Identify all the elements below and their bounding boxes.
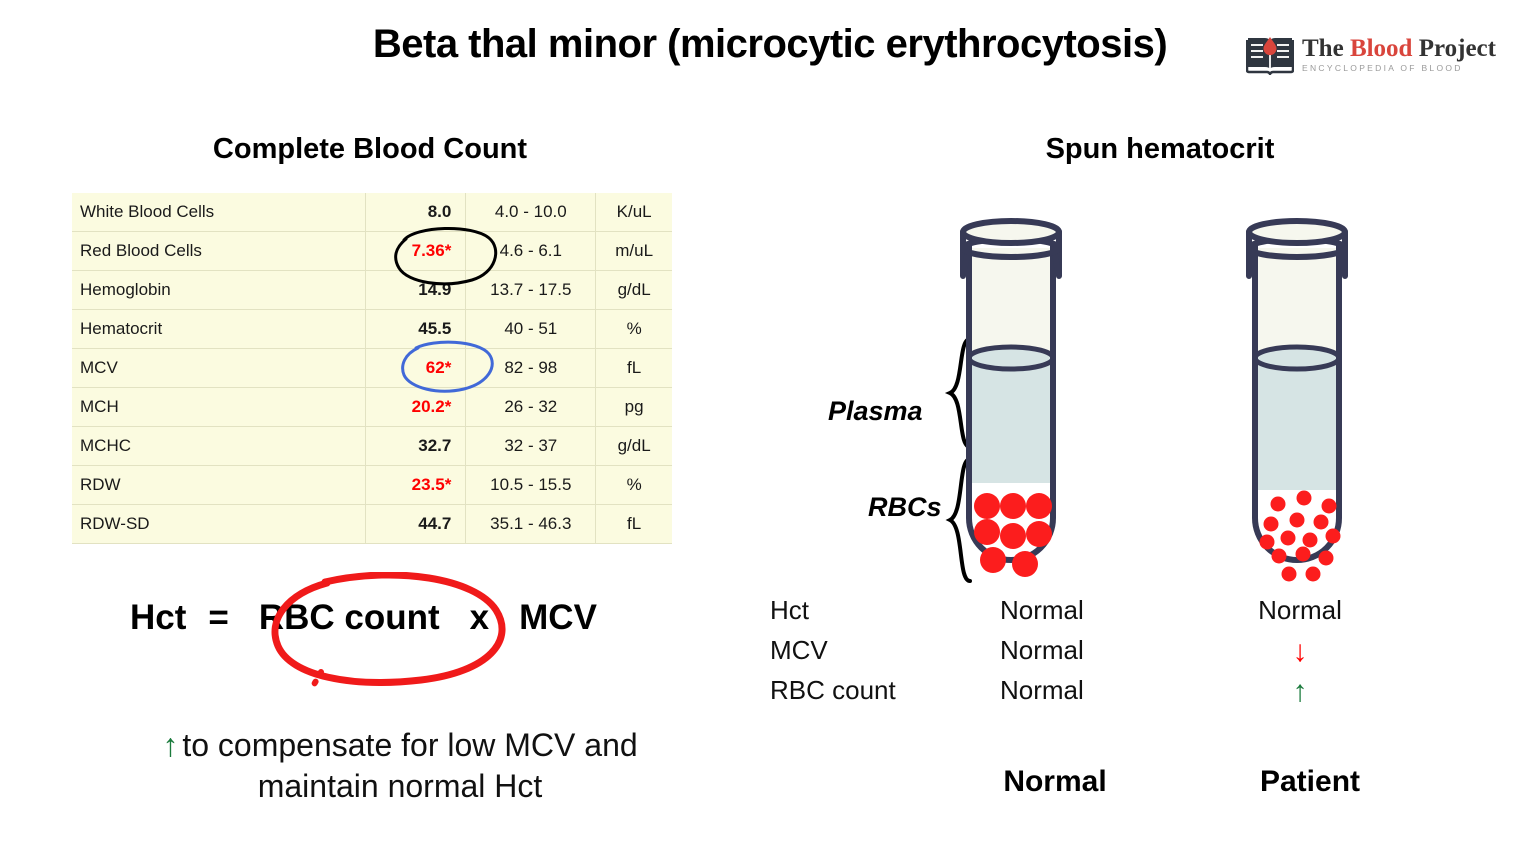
comparison-metric-label: MCV <box>770 635 828 666</box>
analyte-value: 23.5* <box>366 466 466 505</box>
analyte-name: Hematocrit <box>72 310 366 349</box>
caption-line-2: maintain normal Hct <box>258 768 543 804</box>
analyte-unit: % <box>596 310 672 349</box>
analyte-value: 45.5 <box>366 310 466 349</box>
table-row: Red Blood Cells7.36*4.6 - 6.1m/uL <box>72 232 672 271</box>
analyte-unit: % <box>596 466 672 505</box>
analyte-name: RDW-SD <box>72 505 366 544</box>
column-title-normal: Normal <box>955 765 1155 799</box>
analyte-value: 7.36* <box>366 232 466 271</box>
up-arrow-icon: ↑ <box>162 725 178 766</box>
comparison-patient-value: Normal <box>1240 595 1360 626</box>
spun-hematocrit-tubes <box>955 218 1385 588</box>
analyte-unit: g/dL <box>596 427 672 466</box>
up-arrow-icon: ↑ <box>1240 675 1360 709</box>
comparison-normal-value: Normal <box>1000 635 1084 666</box>
table-row: Hematocrit45.540 - 51% <box>72 310 672 349</box>
analyte-name: White Blood Cells <box>72 193 366 232</box>
table-row: MCV62*82 - 98fL <box>72 349 672 388</box>
analyte-name: Hemoglobin <box>72 271 366 310</box>
analyte-name: RDW <box>72 466 366 505</box>
analyte-value: 62* <box>366 349 466 388</box>
tube-patient <box>1249 221 1346 582</box>
analyte-unit: m/uL <box>596 232 672 271</box>
reference-range: 4.0 - 10.0 <box>466 193 596 232</box>
reference-range: 10.5 - 15.5 <box>466 466 596 505</box>
down-arrow-icon: ↓ <box>1240 635 1360 669</box>
plasma-label: Plasma <box>828 396 923 427</box>
analyte-unit: fL <box>596 349 672 388</box>
normal-vs-patient-comparison: Hct Normal Normal MCV Normal ↓ RBC count… <box>770 595 1430 730</box>
analyte-unit: g/dL <box>596 271 672 310</box>
reference-range: 82 - 98 <box>466 349 596 388</box>
analyte-value: 14.9 <box>366 271 466 310</box>
formula-times: x <box>470 598 489 638</box>
compensation-caption: ↑to compensate for low MCV and maintain … <box>55 725 745 807</box>
reference-range: 13.7 - 17.5 <box>466 271 596 310</box>
formula-lhs: Hct <box>130 598 186 638</box>
spun-hematocrit-section-heading: Spun hematocrit <box>860 133 1460 166</box>
reference-range: 40 - 51 <box>466 310 596 349</box>
comparison-row-mcv: MCV Normal ↓ <box>770 635 1430 675</box>
comparison-row-rbc-count: RBC count Normal ↑ <box>770 675 1430 715</box>
page-title: Beta thal minor (microcytic erythrocytos… <box>300 22 1240 67</box>
analyte-value: 20.2* <box>366 388 466 427</box>
table-row: MCHC32.732 - 37g/dL <box>72 427 672 466</box>
reference-range: 35.1 - 46.3 <box>466 505 596 544</box>
table-row: White Blood Cells8.04.0 - 10.0K/uL <box>72 193 672 232</box>
formula-equals: = <box>208 598 228 638</box>
comparison-normal-value: Normal <box>1000 595 1084 626</box>
comparison-normal-value: Normal <box>1000 675 1084 706</box>
logo-name-part1: The <box>1302 35 1350 62</box>
analyte-unit: pg <box>596 388 672 427</box>
logo-name-highlight: Blood <box>1350 35 1413 62</box>
comparison-metric-label: RBC count <box>770 675 896 706</box>
analyte-name: MCH <box>72 388 366 427</box>
analyte-name: MCHC <box>72 427 366 466</box>
analyte-unit: K/uL <box>596 193 672 232</box>
brand-logo: The Blood Project ENCYCLOPEDIA OF BLOOD <box>1246 28 1508 80</box>
cbc-results-table: White Blood Cells8.04.0 - 10.0K/uLRed Bl… <box>72 193 672 544</box>
tube-normal <box>963 221 1060 577</box>
rbcs-label: RBCs <box>868 492 942 523</box>
analyte-name: Red Blood Cells <box>72 232 366 271</box>
caption-line-1: to compensate for low MCV and <box>182 727 637 763</box>
comparison-metric-label: Hct <box>770 595 809 626</box>
analyte-value: 32.7 <box>366 427 466 466</box>
reference-range: 26 - 32 <box>466 388 596 427</box>
hct-formula: Hct=RBC countxMCV <box>130 598 730 638</box>
analyte-name: MCV <box>72 349 366 388</box>
table-row: RDW-SD44.735.1 - 46.3fL <box>72 505 672 544</box>
table-row: Hemoglobin14.913.7 - 17.5g/dL <box>72 271 672 310</box>
logo-name-part2: Project <box>1412 35 1496 62</box>
formula-term-rbc-count: RBC count <box>259 598 440 638</box>
table-row: MCH20.2*26 - 32pg <box>72 388 672 427</box>
column-title-patient: Patient <box>1210 765 1410 799</box>
comparison-row-hct: Hct Normal Normal <box>770 595 1430 635</box>
table-row: RDW23.5*10.5 - 15.5% <box>72 466 672 505</box>
open-book-blood-drop-icon <box>1246 33 1294 75</box>
logo-tagline: ENCYCLOPEDIA OF BLOOD <box>1302 64 1496 73</box>
reference-range: 32 - 37 <box>466 427 596 466</box>
rbc-dots-normal <box>974 493 1052 577</box>
analyte-value: 44.7 <box>366 505 466 544</box>
analyte-unit: fL <box>596 505 672 544</box>
formula-term-mcv: MCV <box>519 598 597 638</box>
cbc-section-heading: Complete Blood Count <box>60 133 680 166</box>
reference-range: 4.6 - 6.1 <box>466 232 596 271</box>
analyte-value: 8.0 <box>366 193 466 232</box>
slide: Beta thal minor (microcytic erythrocytos… <box>0 0 1536 864</box>
